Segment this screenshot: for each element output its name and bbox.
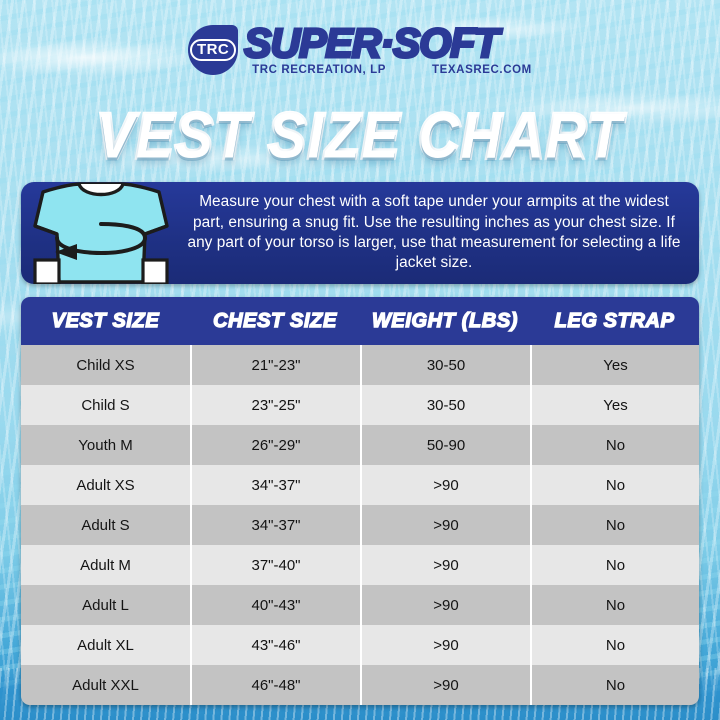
cell-leg-strap: No: [530, 505, 699, 545]
cell-vest-size: Child XS: [21, 345, 190, 385]
cell-vest-size: Adult M: [21, 545, 190, 585]
cell-chest-size: 37"-40": [190, 545, 360, 585]
cell-vest-size: Adult XS: [21, 465, 190, 505]
cell-weight: >90: [360, 545, 530, 585]
cell-leg-strap: No: [530, 625, 699, 665]
torso-illustration: [21, 182, 181, 284]
cell-weight: 50-90: [360, 425, 530, 465]
table-row: Adult S34"-37">90No: [21, 505, 699, 545]
table-body: Child XS21"-23"30-50YesChild S23"-25"30-…: [21, 345, 699, 705]
table-header-row: VEST SIZE CHEST SIZE WEIGHT (LBS) LEG ST…: [21, 297, 699, 345]
cell-weight: >90: [360, 625, 530, 665]
page-title: VEST SIZE CHART: [0, 99, 720, 172]
column-header-leg-strap: LEG STRAP: [530, 310, 699, 333]
trc-droplet-label: TRC: [190, 39, 236, 61]
website-text: TEXASREC.COM: [432, 64, 532, 76]
cell-vest-size: Adult S: [21, 505, 190, 545]
cell-chest-size: 34"-37": [190, 465, 360, 505]
vest-size-table: VEST SIZE CHEST SIZE WEIGHT (LBS) LEG ST…: [21, 297, 699, 705]
cell-leg-strap: No: [530, 465, 699, 505]
cell-chest-size: 23"-25": [190, 385, 360, 425]
table-row: Youth M26"-29"50-90No: [21, 425, 699, 465]
cell-chest-size: 46"-48": [190, 665, 360, 705]
measuring-instructions-banner: Measure your chest with a soft tape unde…: [21, 182, 699, 284]
cell-leg-strap: No: [530, 585, 699, 625]
column-header-chest-size: CHEST SIZE: [190, 310, 360, 333]
cell-chest-size: 43"-46": [190, 625, 360, 665]
column-header-vest-size: VEST SIZE: [21, 310, 190, 333]
cell-weight: >90: [360, 665, 530, 705]
cell-chest-size: 26"-29": [190, 425, 360, 465]
table-row: Adult XS34"-37">90No: [21, 465, 699, 505]
cell-vest-size: Child S: [21, 385, 190, 425]
table-row: Adult XL43"-46">90No: [21, 625, 699, 665]
cell-leg-strap: No: [530, 545, 699, 585]
cell-leg-strap: No: [530, 665, 699, 705]
cell-weight: 30-50: [360, 345, 530, 385]
column-header-weight: WEIGHT (LBS): [360, 310, 530, 333]
table-row: Adult XXL46"-48">90No: [21, 665, 699, 705]
cell-chest-size: 21"-23": [190, 345, 360, 385]
cell-vest-size: Youth M: [21, 425, 190, 465]
table-row: Child XS21"-23"30-50Yes: [21, 345, 699, 385]
cell-weight: >90: [360, 585, 530, 625]
cell-leg-strap: Yes: [530, 345, 699, 385]
measuring-instructions-text: Measure your chest with a soft tape unde…: [181, 182, 699, 284]
cell-weight: >90: [360, 505, 530, 545]
cell-chest-size: 40"-43": [190, 585, 360, 625]
super-soft-wordmark: SUPER·SOFT: [244, 24, 532, 63]
cell-leg-strap: Yes: [530, 385, 699, 425]
table-row: Adult L40"-43">90No: [21, 585, 699, 625]
cell-vest-size: Adult L: [21, 585, 190, 625]
trc-droplet-logo-icon: TRC: [188, 25, 238, 75]
table-row: Adult M37"-40">90No: [21, 545, 699, 585]
cell-chest-size: 34"-37": [190, 505, 360, 545]
cell-vest-size: Adult XXL: [21, 665, 190, 705]
cell-weight: >90: [360, 465, 530, 505]
shirt-measuring-icon: [21, 182, 181, 284]
cell-vest-size: Adult XL: [21, 625, 190, 665]
table-row: Child S23"-25"30-50Yes: [21, 385, 699, 425]
company-name-text: TRC RECREATION, LP: [252, 64, 386, 76]
brand-logo-band: TRC SUPER·SOFT TRC RECREATION, LP TEXASR…: [0, 0, 720, 100]
cell-weight: 30-50: [360, 385, 530, 425]
cell-leg-strap: No: [530, 425, 699, 465]
